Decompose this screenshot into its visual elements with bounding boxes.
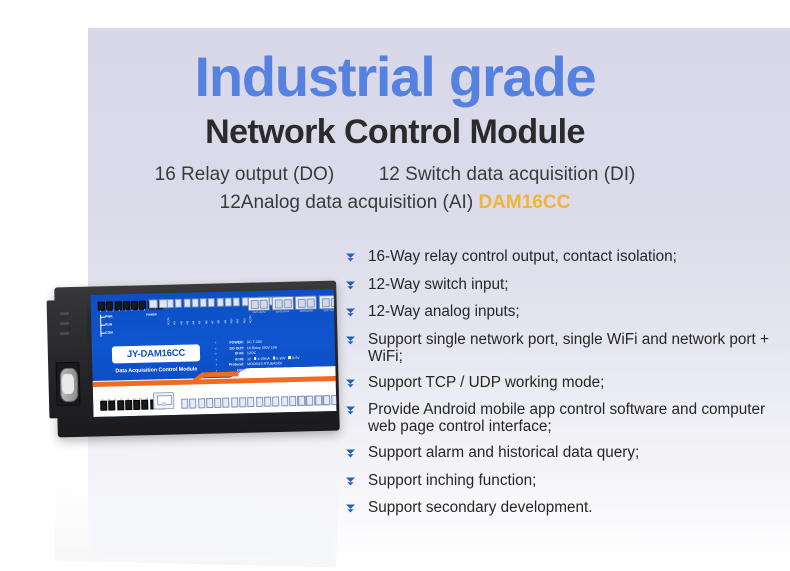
list-item: 16-Way relay control output, contact iso… [345, 248, 785, 267]
terminal-number: 6 [129, 309, 134, 312]
do-relay-strip-right [298, 395, 336, 406]
header-block: Industrial grade Network Control Module … [0, 0, 790, 216]
spec-key: Protocol: [218, 363, 247, 368]
rj45-tab [162, 402, 166, 406]
spec-line-2: 12Analog data acquisition (AI) DAM16CC [0, 190, 790, 216]
list-item: Support secondary development. [345, 499, 785, 518]
terminal-number: 11 [113, 398, 118, 401]
page-subtitle: Network Control Module [0, 112, 790, 152]
ai-label: AI1 [173, 308, 178, 325]
list-item: 12-Way switch input; [345, 276, 785, 295]
ai-label: AI5 [198, 307, 203, 324]
terminal-number: 3 [111, 309, 116, 312]
ai-label: AI4 [192, 307, 197, 324]
ai-label: AI9 [224, 307, 229, 324]
list-item: Provide Android mobile app control softw… [345, 401, 785, 435]
spec-key: DO OUT: [218, 346, 247, 351]
list-item: Support single network port, single WiFi… [345, 331, 785, 365]
spec-analog-acquisition: 12Analog data acquisition (AI) [220, 192, 474, 213]
relay-block: OUT5 OUT6 [295, 295, 317, 310]
device-faceplate: 1 2 3 4 5 6 7 8 PWR RUN COM + - POWER [91, 289, 337, 417]
brand-model-text: JY-DAM16CC [127, 348, 185, 360]
led-label-run: RUN [105, 322, 112, 326]
relay-block-label: OUT3 OUT4 [273, 311, 293, 313]
ai-label: AI10 [230, 306, 235, 323]
relay-block: OUT3 OUT4 [271, 296, 293, 311]
terminal-number: 4 [117, 309, 122, 312]
product-banner: Industrial grade Network Control Module … [0, 0, 790, 571]
terminal-number: 13 [125, 398, 130, 401]
feature-list: 16-Way relay control output, contact iso… [345, 248, 785, 527]
terminal-number: 9 [100, 399, 105, 402]
terminal-number: 10 [106, 399, 111, 402]
list-item-label: Support secondary development. [368, 499, 593, 518]
relay-output-blocks: OUT1 OUT2 OUT3 OUT4 OUT5 OUT6 OUT7 OUT8 [248, 295, 337, 311]
terminal-number: 2 [104, 310, 109, 313]
spec-chip: 0-5V [292, 356, 300, 360]
double-chevron-down-icon [345, 448, 361, 459]
terminal-number: 1 [98, 310, 103, 313]
spec-value-text: 12 [247, 357, 251, 361]
list-item-label: Support inching function; [368, 472, 536, 491]
product-photo: 1 2 3 4 5 6 7 8 PWR RUN COM + - POWER [48, 278, 348, 448]
list-item-label: Support TCP / UDP working mode; [368, 374, 604, 393]
double-chevron-down-icon [345, 476, 361, 487]
brand-label: JY-DAM16CC [112, 344, 200, 363]
list-item: 12-Way analog inputs; [345, 303, 785, 322]
relay-block-label: OUT7 OUT8 [320, 309, 337, 311]
chassis-vent-1 [60, 312, 69, 315]
rj45-ethernet-icon [153, 392, 174, 410]
led-label-pwr: PWR [105, 314, 113, 318]
double-chevron-down-icon [345, 252, 361, 263]
checkbox-icon [273, 357, 276, 360]
terminal-number: 15 [138, 398, 143, 401]
spec-relay-output: 16 Relay output (DO) [155, 164, 335, 185]
ai-label: AI8 [217, 307, 222, 324]
brand-subtitle: Data Acquisition Control Module [104, 366, 208, 375]
terminal-number: 5 [123, 309, 128, 312]
power-label: POWER [146, 312, 157, 316]
list-item-label: 16-Way relay control output, contact iso… [368, 248, 677, 267]
spec-chip: 0-10V [276, 356, 285, 360]
list-item-label: Support single network port, single WiFi… [368, 331, 785, 365]
spec-chip: 4-20mA [258, 356, 270, 360]
terminal-number: 8 [142, 309, 147, 312]
list-item: Support inching function; [345, 472, 785, 491]
ai-label: AI6 [205, 307, 210, 324]
model-name: DAM16CC [478, 192, 570, 213]
relay-block-label: OUT1 OUT2 [249, 311, 269, 313]
terminal-number: 14 [132, 398, 137, 401]
spec-switch-acquisition: 12 Switch data acquisition (DI) [379, 164, 636, 185]
spec-key: POWER: [218, 340, 247, 345]
db9-serial-connector-icon [55, 362, 80, 407]
chassis-vent-3 [60, 332, 69, 335]
list-item-label: Provide Android mobile app control softw… [368, 401, 785, 435]
ai-label: AI11 [236, 306, 241, 323]
spec-key: DI IN: [218, 351, 247, 356]
terminal-number: 7 [136, 309, 141, 312]
relay-block: OUT1 OUT2 [248, 297, 270, 312]
db9-pins [62, 374, 74, 394]
chassis-vent-2 [60, 322, 69, 325]
terminal-number: 12 [119, 398, 124, 401]
power-polarity: + - [148, 309, 151, 312]
list-item: Support TCP / UDP working mode; [345, 374, 785, 393]
ai-label: AI2 [179, 308, 184, 325]
ai-terminal-labels: ACOM AI1 AI2 AI3 AI4 AI5 AI6 AI7 AI8 AI9… [167, 306, 256, 325]
double-chevron-down-icon [345, 503, 361, 514]
ai-label: AI7 [211, 307, 216, 324]
relay-block-label: OUT5 OUT6 [296, 310, 316, 312]
page-title: Industrial grade [0, 46, 790, 108]
list-item: Support alarm and historical data query; [345, 444, 785, 463]
ai-label: AI3 [186, 308, 191, 325]
spec-line-1: 16 Relay output (DO) 12 Switch data acqu… [0, 162, 790, 188]
spec-key: AI IN: [218, 357, 247, 362]
list-item-label: 12-Way switch input; [368, 276, 509, 295]
list-item-label: Support alarm and historical data query; [368, 444, 639, 463]
ai-label: ACOM [167, 308, 172, 325]
terminal-number: 16 [144, 398, 149, 401]
led-label-com: COM [105, 330, 113, 334]
checkbox-icon [289, 356, 292, 359]
list-item-label: 12-Way analog inputs; [368, 303, 520, 322]
led-legend-spine [100, 315, 101, 337]
di-terminal-numbers: 1 2 3 4 5 6 7 8 [98, 309, 148, 313]
